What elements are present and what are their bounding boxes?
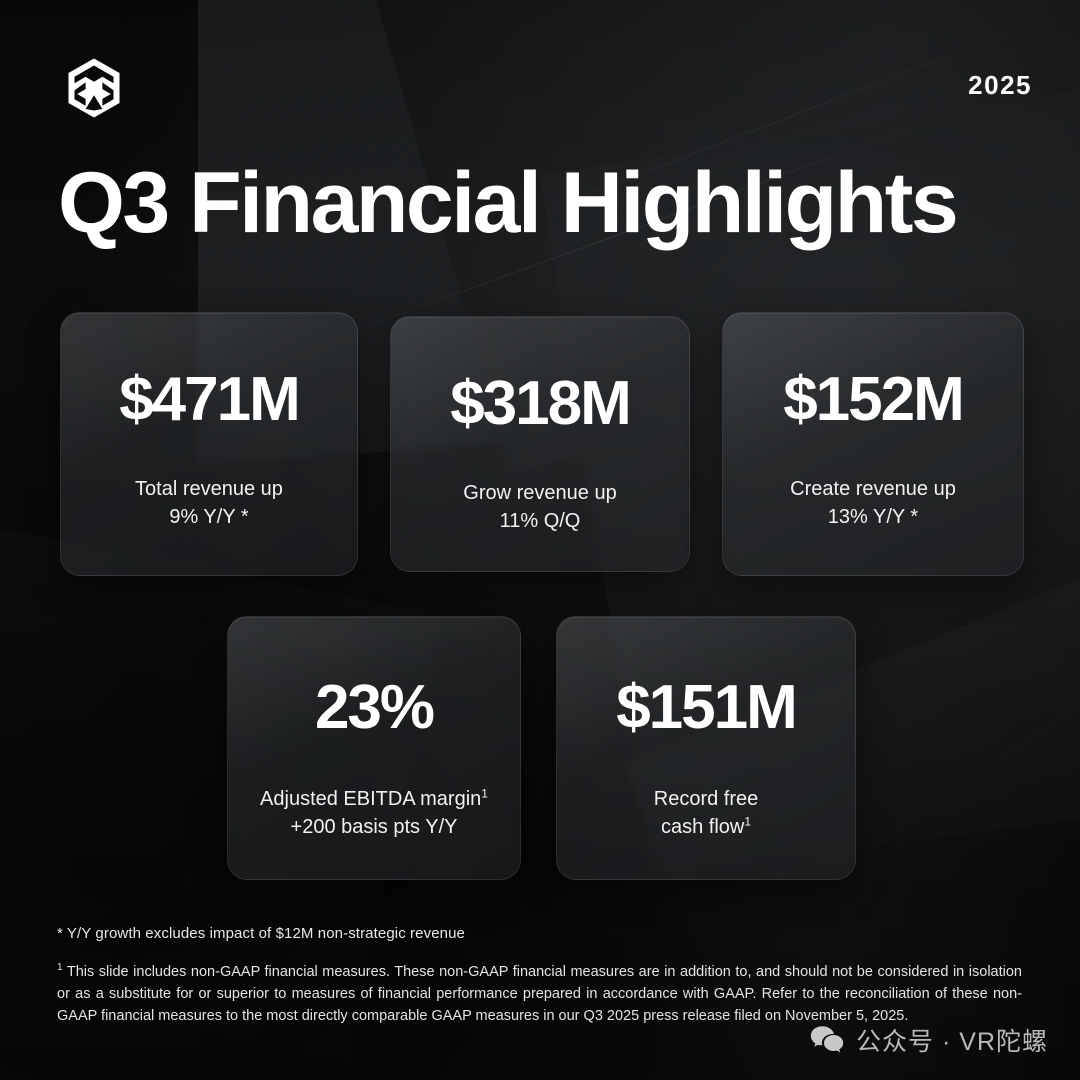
page-title: Q3 Financial Highlights: [58, 160, 956, 246]
footnote-nongaap: 1 This slide includes non-GAAP financial…: [57, 960, 1022, 1027]
metric-caption-line2: cash flow: [661, 816, 744, 838]
metric-caption: Total revenue up 9% Y/Y *: [135, 475, 283, 532]
metric-caption: Grow revenue up 11% Q/Q: [463, 479, 616, 536]
metric-caption-line1: Total revenue up: [135, 478, 283, 500]
metric-card-total-revenue: $471M Total revenue up 9% Y/Y *: [60, 312, 358, 576]
footnote-marker: 1: [481, 786, 488, 800]
metric-caption-line1: Adjusted EBITDA margin: [260, 788, 481, 810]
metric-caption-line2: 11% Q/Q: [500, 510, 581, 532]
metric-value: $152M: [783, 369, 963, 431]
metric-caption: Adjusted EBITDA margin1 +200 basis pts Y…: [260, 785, 488, 842]
watermark-text: 公众号 · VR陀螺: [856, 1022, 1048, 1058]
metric-value: $318M: [450, 373, 630, 435]
metric-caption-line1: Grow revenue up: [463, 482, 616, 504]
metric-caption: Create revenue up 13% Y/Y *: [790, 475, 956, 532]
metric-card-grow-revenue: $318M Grow revenue up 11% Q/Q: [390, 316, 690, 572]
footnote-marker: 1: [57, 962, 63, 973]
metric-caption-line2: 13% Y/Y *: [828, 506, 918, 528]
metric-value: $151M: [616, 677, 796, 739]
footnote-nongaap-text: This slide includes non-GAAP financial m…: [57, 964, 1022, 1024]
unity-logo-icon: [66, 57, 122, 119]
footnote-asterisk: * Y/Y growth excludes impact of $12M non…: [57, 925, 465, 942]
metric-value: 23%: [315, 677, 433, 739]
metric-card-create-revenue: $152M Create revenue up 13% Y/Y *: [722, 312, 1024, 576]
metric-card-ebitda-margin: 23% Adjusted EBITDA margin1 +200 basis p…: [227, 616, 521, 880]
footnote-marker: 1: [744, 815, 751, 829]
metric-value: $471M: [119, 369, 299, 431]
metric-caption-line2: +200 basis pts Y/Y: [291, 816, 458, 838]
watermark: 公众号 · VR陀螺: [810, 1022, 1048, 1058]
metric-caption-line1: Record free: [654, 788, 759, 810]
metric-caption-line1: Create revenue up: [790, 478, 956, 500]
metric-caption: Record free cash flow1: [654, 785, 759, 842]
metric-card-free-cash-flow: $151M Record free cash flow1: [556, 616, 856, 880]
slide-root: 2025 Q3 Financial Highlights $471M Total…: [0, 0, 1080, 1080]
year-label: 2025: [968, 70, 1032, 101]
metric-caption-line2: 9% Y/Y *: [169, 506, 248, 528]
wechat-icon: [810, 1025, 844, 1055]
